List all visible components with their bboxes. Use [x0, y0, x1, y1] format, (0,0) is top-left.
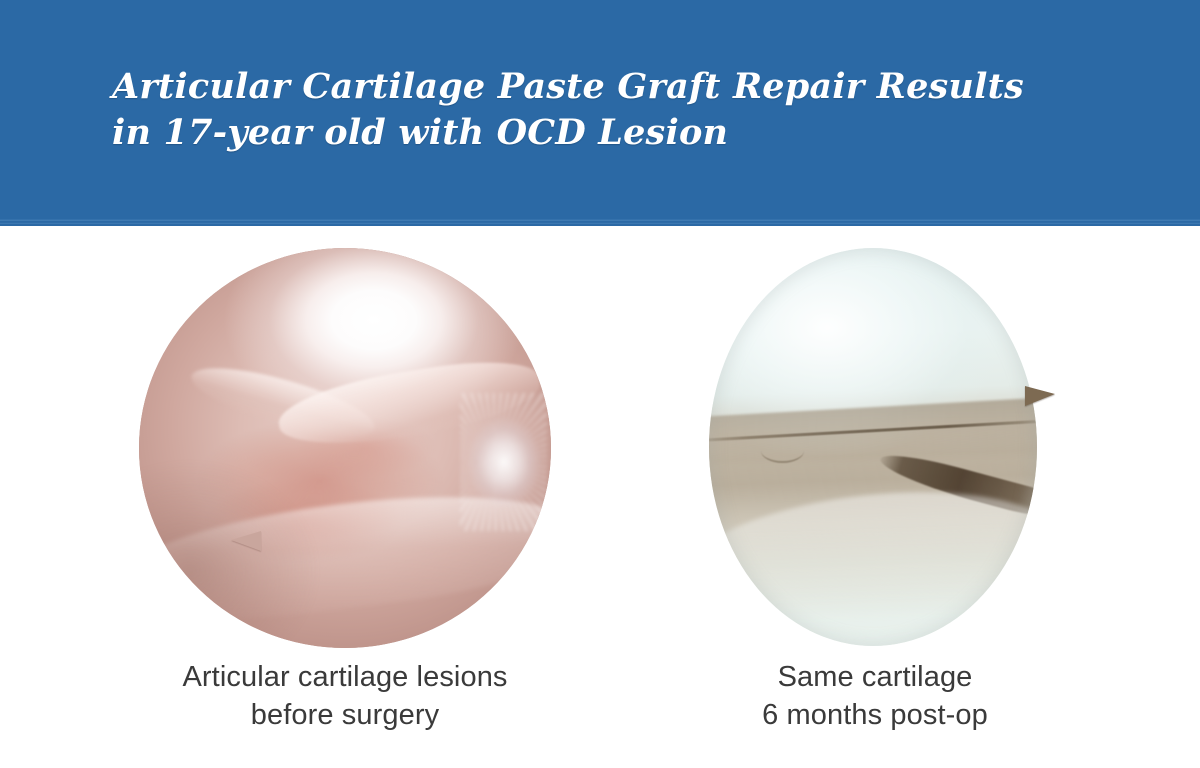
arthroscopic-image-before	[139, 248, 551, 648]
scope-wrap-after	[709, 226, 1041, 626]
figure-before-surgery: Articular cartilage lesions before surge…	[95, 226, 595, 630]
scope-edge-spike-before	[231, 531, 261, 551]
comparison-figure-page: Articular Cartilage Paste Graft Repair R…	[0, 0, 1200, 768]
figure-post-op: Same cartilage 6 months post-op	[640, 226, 1110, 626]
page-title-line-2: in 17-year old with OCD Lesion	[112, 110, 1112, 156]
page-title: Articular Cartilage Paste Graft Repair R…	[112, 64, 1112, 156]
caption-post-op-line-2: 6 months post-op	[640, 696, 1110, 734]
scope-vignette-rim	[709, 248, 1037, 646]
tissue-shadow	[139, 456, 345, 648]
caption-post-op-line-1: Same cartilage	[640, 658, 1110, 696]
figures-row: Articular cartilage lesions before surge…	[0, 226, 1200, 768]
caption-before-line-2: before surgery	[95, 696, 595, 734]
scope-wrap-before	[139, 226, 551, 630]
caption-before-surgery: Articular cartilage lesions before surge…	[95, 658, 595, 734]
header-band: Articular Cartilage Paste Graft Repair R…	[0, 0, 1200, 226]
caption-before-line-1: Articular cartilage lesions	[95, 658, 595, 696]
arthroscopic-image-post-op	[709, 248, 1037, 646]
page-title-line-1: Articular Cartilage Paste Graft Repair R…	[112, 64, 1112, 110]
fibrous-tuft	[465, 408, 543, 516]
caption-post-op: Same cartilage 6 months post-op	[640, 658, 1110, 734]
scope-edge-spike-after	[1025, 386, 1055, 406]
